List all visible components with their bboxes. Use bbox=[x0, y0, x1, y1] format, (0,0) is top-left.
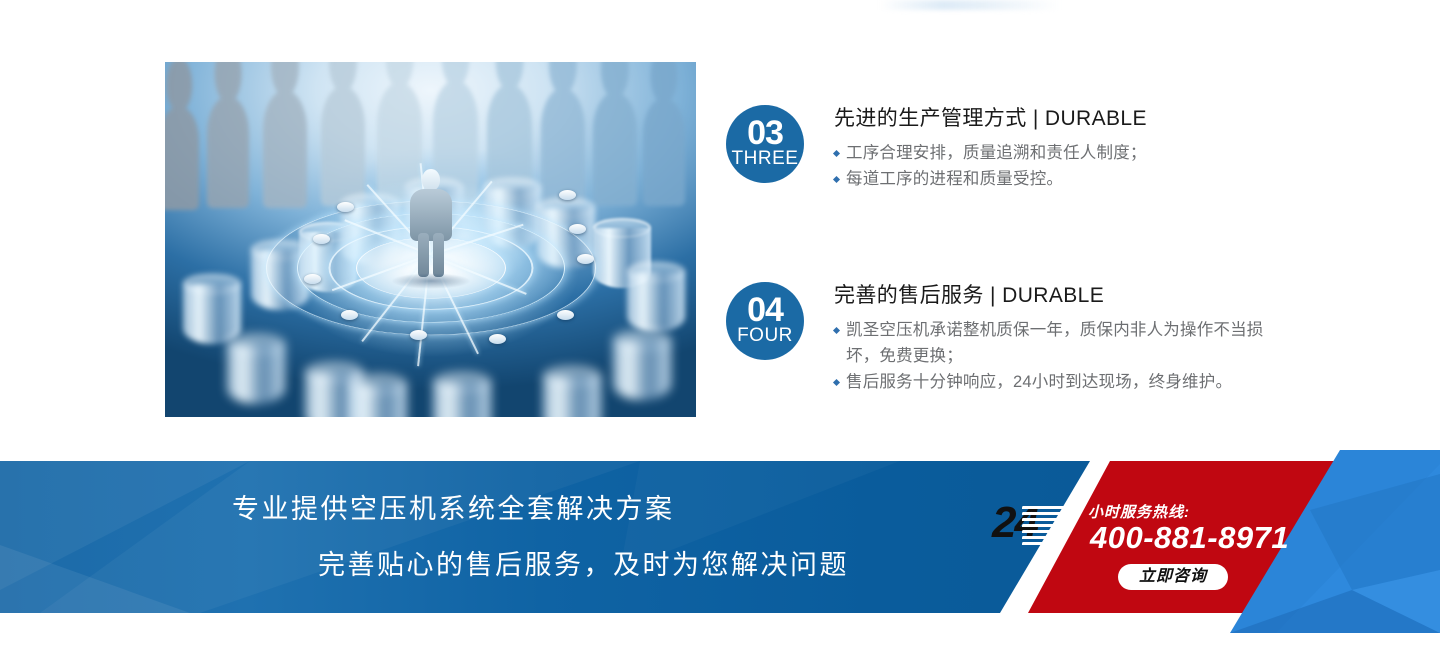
slogan-line-2: 完善贴心的售后服务，及时为您解决问题 bbox=[318, 543, 849, 582]
badge-word: FOUR bbox=[726, 326, 804, 346]
slogan-line-1: 专业提供空压机系统全套解决方案 bbox=[232, 487, 675, 526]
feature-list-item: 工序合理安排，质量追溯和责任人制度； bbox=[834, 140, 1264, 166]
feature-list: 工序合理安排，质量追溯和责任人制度； 每道工序的进程和质量受控。 bbox=[834, 140, 1264, 192]
feature-list-item: 售后服务十分钟响应，24小时到达现场，终身维护。 bbox=[834, 369, 1264, 395]
feature-title: 先进的生产管理方式 | DURABLE bbox=[834, 105, 1264, 133]
network-people-illustration bbox=[165, 62, 696, 417]
badge-number: 03 bbox=[726, 118, 804, 148]
feature-badge-04: 04 FOUR bbox=[726, 282, 804, 360]
feature-item-text: 每道工序的进程和质量受控。 bbox=[846, 170, 1063, 188]
feature-item-text: 凯圣空压机承诺整机质保一年，质保内非人为操作不当损坏，免费更换； bbox=[846, 321, 1264, 365]
feature-block-03: 03 THREE 先进的生产管理方式 | DURABLE 工序合理安排，质量追溯… bbox=[726, 105, 1266, 195]
feature-title: 完善的售后服务 | DURABLE bbox=[834, 282, 1264, 310]
diamond-bullet-icon bbox=[833, 379, 840, 386]
feature-badge-03: 03 THREE bbox=[726, 105, 804, 183]
feature-list-item: 每道工序的进程和质量受控。 bbox=[834, 166, 1264, 192]
illustration-scene bbox=[165, 62, 696, 417]
feature-content-04: 完善的售后服务 | DURABLE 凯圣空压机承诺整机质保一年，质保内非人为操作… bbox=[834, 282, 1264, 395]
diamond-bullet-icon bbox=[833, 327, 840, 334]
feature-content-03: 先进的生产管理方式 | DURABLE 工序合理安排，质量追溯和责任人制度； 每… bbox=[834, 105, 1264, 192]
consult-now-button[interactable]: 立即咨询 bbox=[1118, 564, 1228, 590]
center-person-figure bbox=[408, 169, 454, 277]
hotline-block: 24 小时服务热线: 400-881-8971 立即咨询 bbox=[992, 498, 1292, 608]
feature-item-text: 工序合理安排，质量追溯和责任人制度； bbox=[846, 144, 1147, 162]
feature-item-text: 售后服务十分钟响应，24小时到达现场，终身维护。 bbox=[846, 373, 1232, 391]
motion-streaks-icon bbox=[1022, 504, 1084, 548]
page-root: 03 THREE 先进的生产管理方式 | DURABLE 工序合理安排，质量追溯… bbox=[0, 0, 1440, 663]
diamond-bullet-icon bbox=[833, 150, 840, 157]
top-edge-artifact bbox=[880, 0, 1060, 10]
badge-number: 04 bbox=[726, 295, 804, 325]
hotline-number: 400-881-8971 bbox=[1090, 520, 1289, 556]
banner-slogan: 专业提供空压机系统全套解决方案 完善贴心的售后服务，及时为您解决问题 bbox=[0, 461, 950, 613]
feature-block-04: 04 FOUR 完善的售后服务 | DURABLE 凯圣空压机承诺整机质保一年，… bbox=[726, 282, 1266, 412]
badge-word: THREE bbox=[726, 149, 804, 169]
feature-list-item: 凯圣空压机承诺整机质保一年，质保内非人为操作不当损坏，免费更换； bbox=[834, 317, 1264, 369]
feature-list: 凯圣空压机承诺整机质保一年，质保内非人为操作不当损坏，免费更换； 售后服务十分钟… bbox=[834, 317, 1264, 395]
hotline-label: 小时服务热线: bbox=[1088, 501, 1190, 522]
diamond-bullet-icon bbox=[833, 176, 840, 183]
